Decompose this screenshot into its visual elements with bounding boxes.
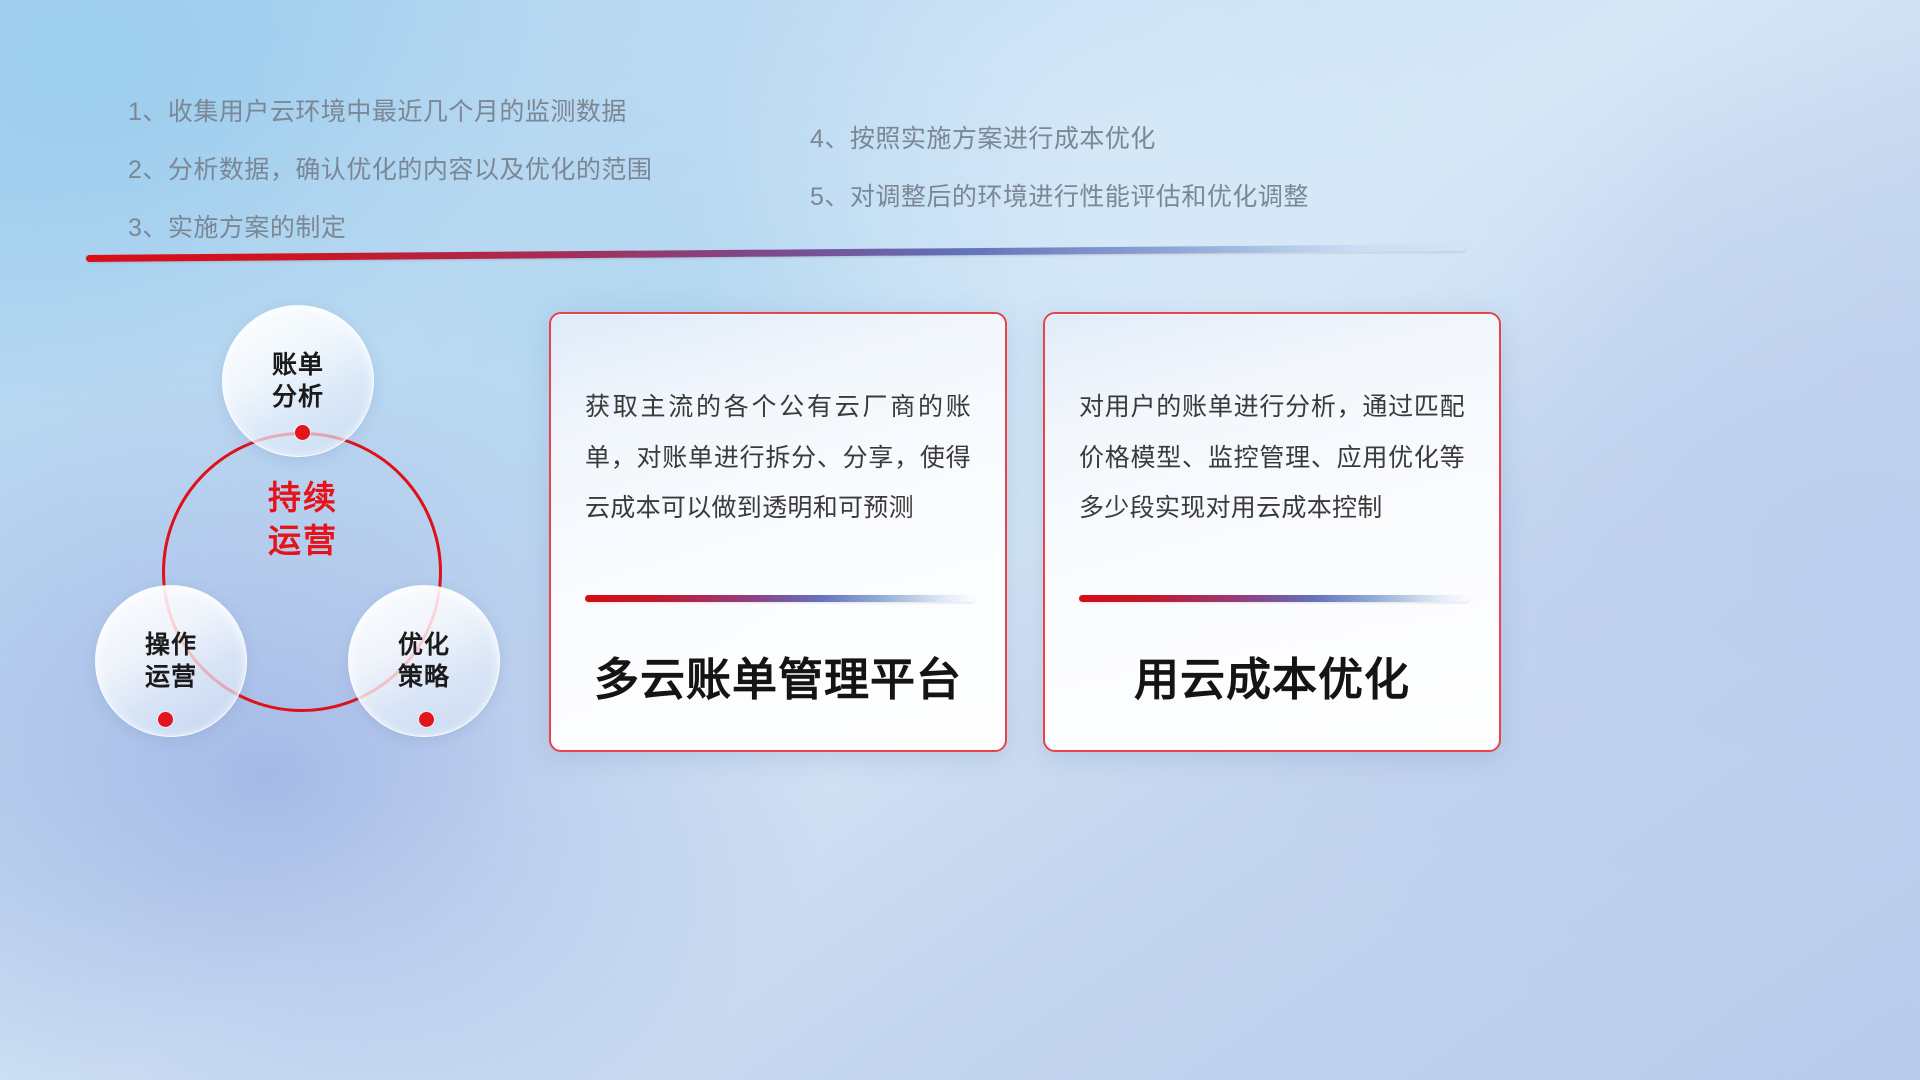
card-2-body: 对用户的账单进行分析，通过匹配价格模型、监控管理、应用优化等多少段实现对用云成本… xyxy=(1079,382,1465,534)
step-item-5: 5、对调整后的环境进行性能评估和优化调整 xyxy=(810,185,1309,210)
step-item-3: 3、实施方案的制定 xyxy=(128,216,652,241)
node-dot-top xyxy=(295,425,310,440)
slide-canvas: 1、收集用户云环境中最近几个月的监测数据 2、分析数据，确认优化的内容以及优化的… xyxy=(0,0,1920,1080)
card-2-title: 用云成本优化 xyxy=(1045,643,1499,708)
node-dot-right xyxy=(419,712,434,727)
step-item-1: 1、收集用户云环境中最近几个月的监测数据 xyxy=(128,100,652,125)
bubble-right-line-1: 优化 xyxy=(398,629,450,661)
card-1-divider xyxy=(585,595,975,602)
node-dot-left xyxy=(158,712,173,727)
step-item-4: 4、按照实施方案进行成本优化 xyxy=(810,127,1309,152)
header-divider xyxy=(86,244,1466,262)
bubble-left-line-1: 操作 xyxy=(145,629,197,661)
continuous-operation-diagram: 持续 运营 账单 分析 操作 运营 优化 策略 xyxy=(80,285,540,775)
center-label-line-2: 运营 xyxy=(235,520,371,563)
card-cloud-cost-optimization[interactable]: 对用户的账单进行分析，通过匹配价格模型、监控管理、应用优化等多少段实现对用云成本… xyxy=(1043,312,1501,752)
card-1-title: 多云账单管理平台 xyxy=(551,643,1005,708)
steps-list-right: 4、按照实施方案进行成本优化 5、对调整后的环境进行性能评估和优化调整 xyxy=(810,127,1309,210)
card-1-body: 获取主流的各个公有云厂商的账单，对账单进行拆分、分享，使得云成本可以做到透明和可… xyxy=(585,382,971,534)
steps-list-left: 1、收集用户云环境中最近几个月的监测数据 2、分析数据，确认优化的内容以及优化的… xyxy=(128,100,652,241)
bubble-top-line-2: 分析 xyxy=(272,381,324,413)
center-label-line-1: 持续 xyxy=(235,477,371,520)
card-multi-cloud-billing[interactable]: 获取主流的各个公有云厂商的账单，对账单进行拆分、分享，使得云成本可以做到透明和可… xyxy=(549,312,1007,752)
bubble-top-line-1: 账单 xyxy=(272,349,324,381)
step-item-2: 2、分析数据，确认优化的内容以及优化的范围 xyxy=(128,158,652,183)
card-2-divider xyxy=(1079,595,1469,602)
bubble-right-line-2: 策略 xyxy=(398,661,450,693)
diagram-center-label: 持续 运营 xyxy=(235,477,371,563)
bubble-left-line-2: 运营 xyxy=(145,661,197,693)
